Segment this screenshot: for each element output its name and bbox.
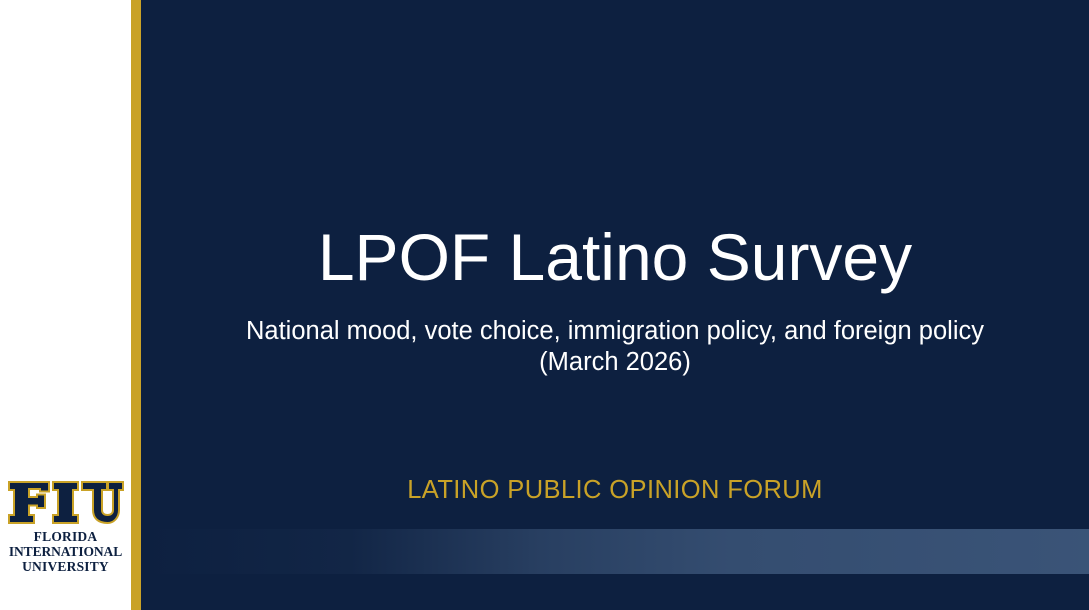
- page-title: LPOF Latino Survey: [141, 218, 1089, 296]
- wordmark-line-3: UNIVERSITY: [0, 559, 131, 574]
- gold-accent-bar: [131, 0, 141, 610]
- title-slide: LPOF Latino Survey National mood, vote c…: [0, 0, 1089, 610]
- subtitle: National mood, vote choice, immigration …: [141, 316, 1089, 378]
- fiu-monogram-icon: [7, 478, 125, 526]
- wordmark-line-1: FLORIDA: [0, 529, 131, 544]
- forum-label: LATINO PUBLIC OPINION FORUM: [141, 476, 1089, 505]
- title-block: LPOF Latino Survey National mood, vote c…: [141, 0, 1089, 610]
- fiu-logo: FLORIDA INTERNATIONAL UNIVERSITY: [0, 478, 131, 574]
- subtitle-line-1: National mood, vote choice, immigration …: [246, 317, 984, 345]
- wordmark-line-2: INTERNATIONAL: [0, 544, 131, 559]
- fiu-wordmark: FLORIDA INTERNATIONAL UNIVERSITY: [0, 529, 131, 574]
- subtitle-line-2: (March 2026): [141, 347, 1089, 378]
- navy-content-area: LPOF Latino Survey National mood, vote c…: [141, 0, 1089, 610]
